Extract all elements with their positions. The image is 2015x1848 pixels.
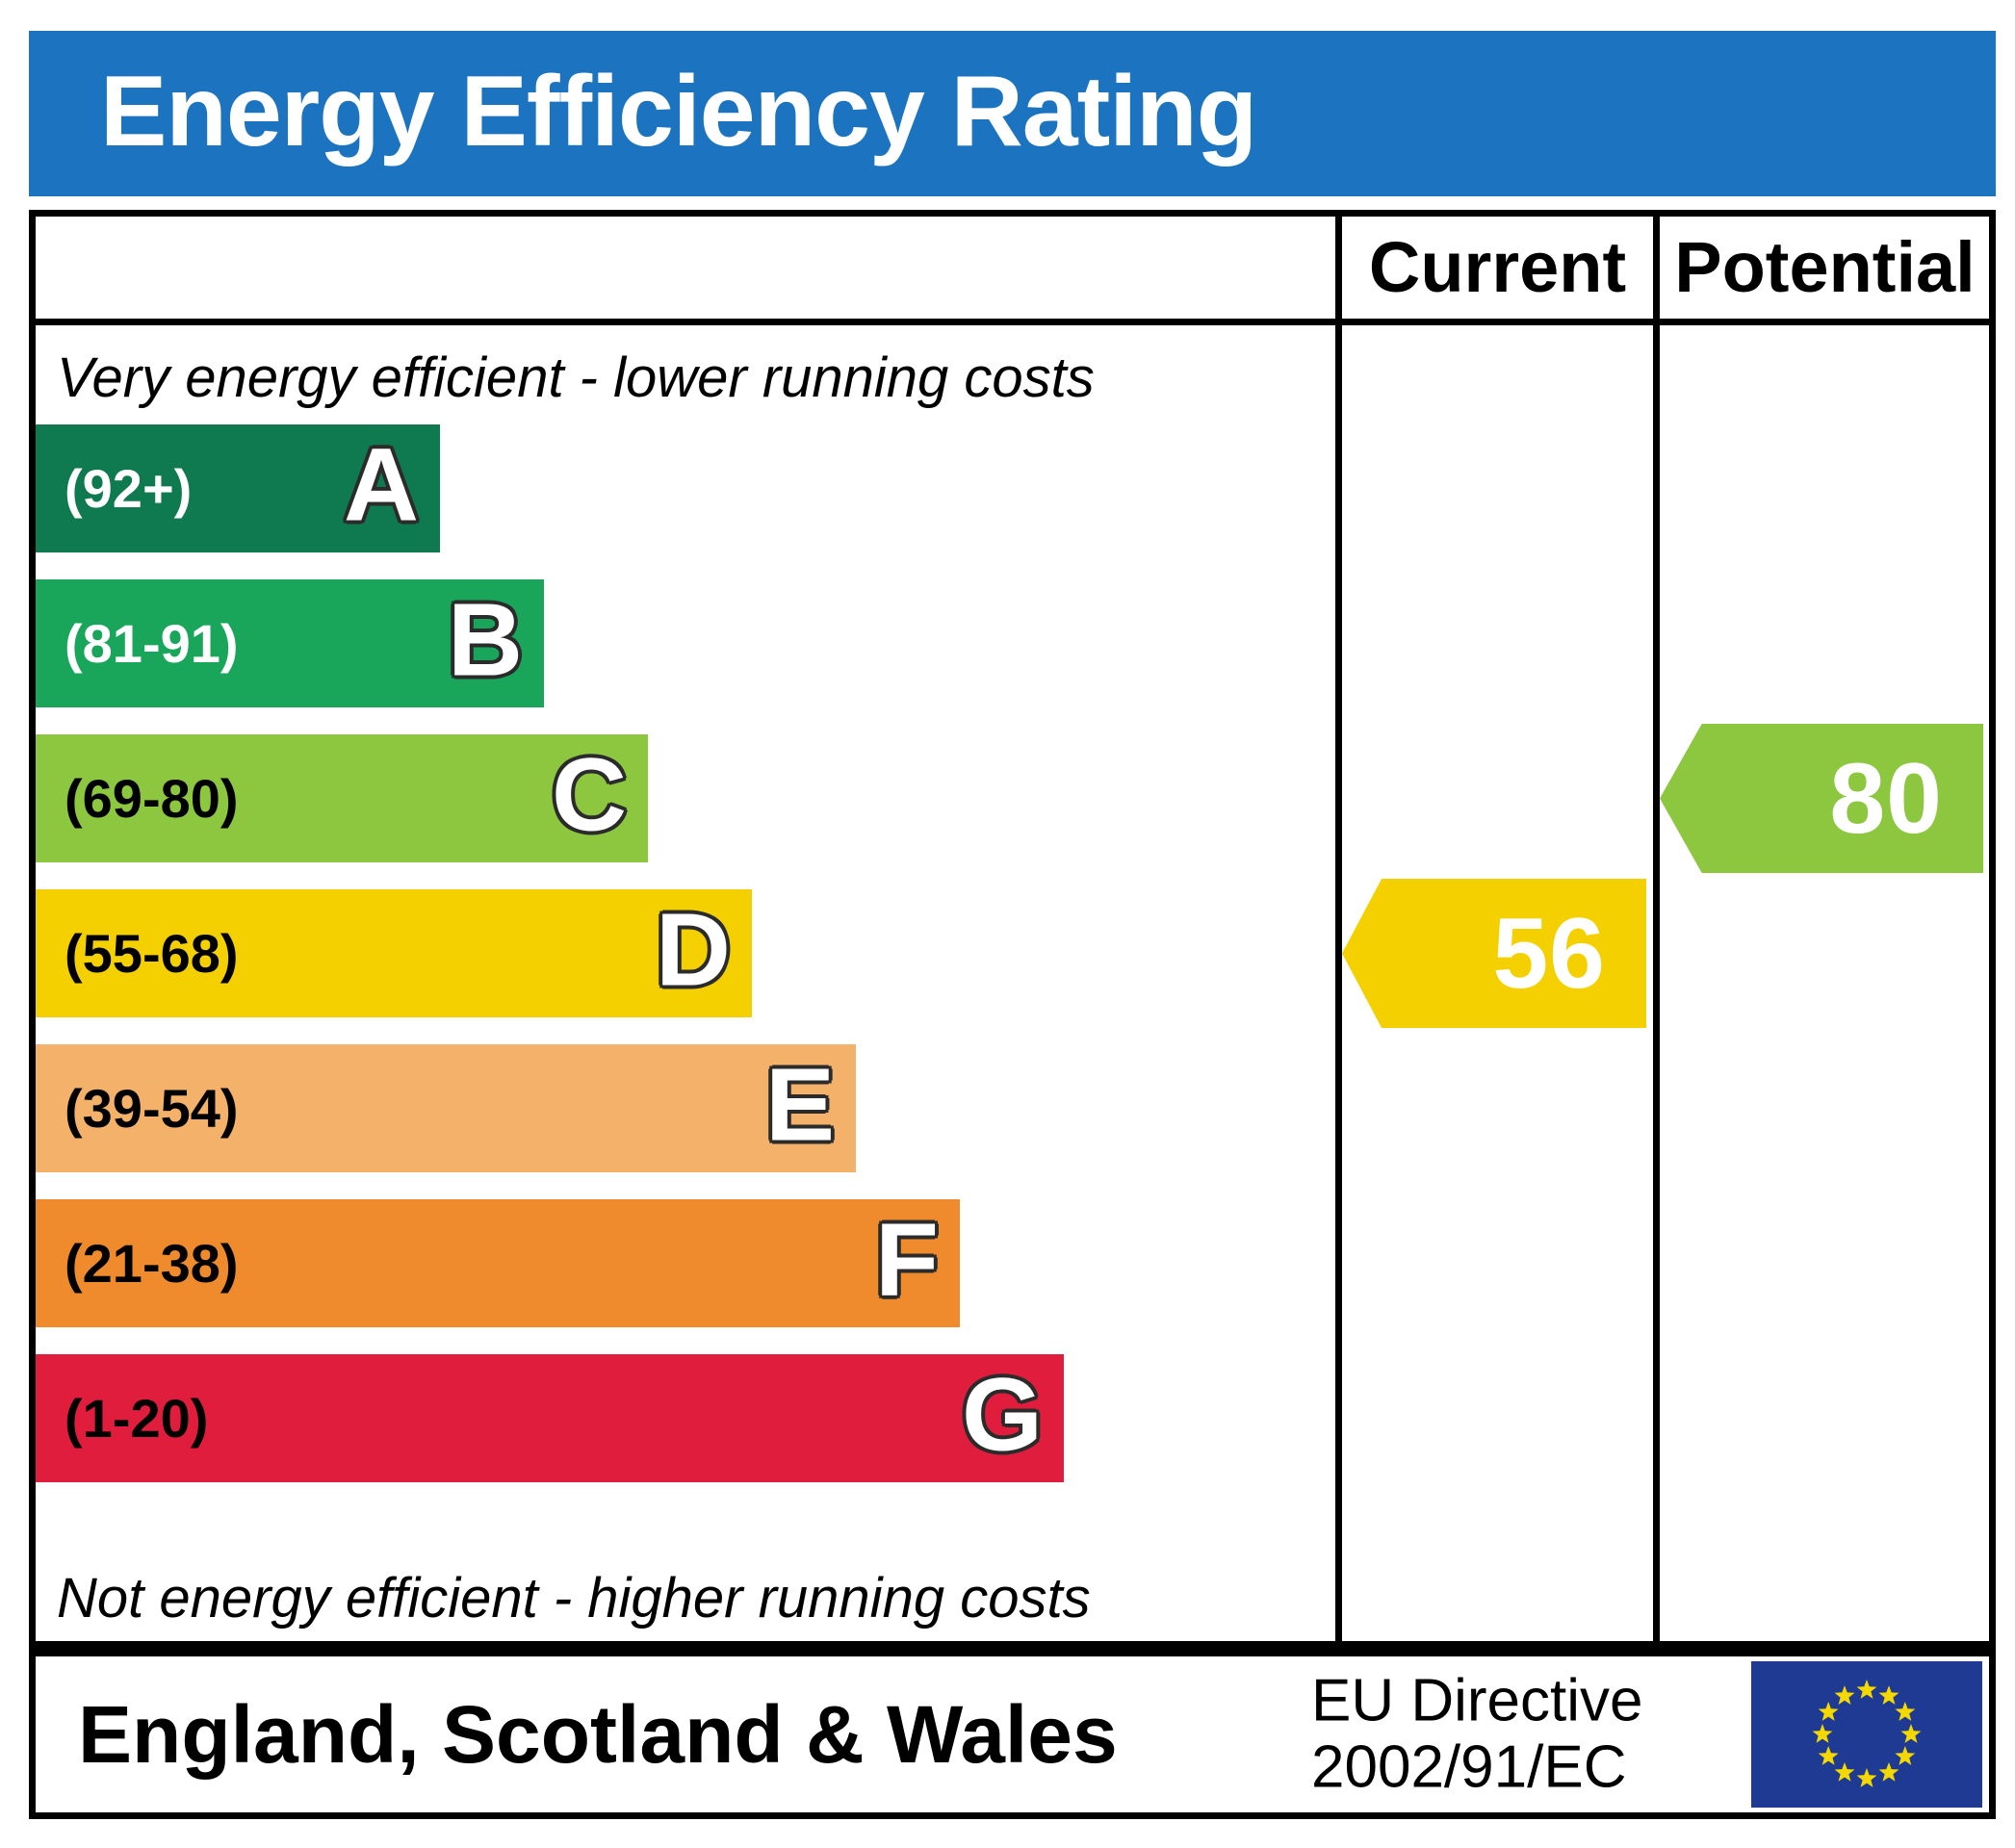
caption-inefficient: Not energy efficient - higher running co… (57, 1571, 1091, 1627)
band-letter-d: D (656, 897, 731, 1001)
band-letter-e: E (765, 1052, 835, 1156)
potential-rating-value: 80 (1829, 749, 1983, 849)
current-rating-value: 56 (1492, 904, 1646, 1004)
band-bar-d: (55-68)D (36, 889, 752, 1017)
column-header-current: Current (1335, 217, 1653, 319)
footer-directive-line1: EU Directive (1311, 1668, 1643, 1734)
table-header-row: Current Potential (36, 217, 1989, 325)
band-range-d: (55-68) (65, 927, 239, 981)
band-bar-g: (1-20)G (36, 1354, 1064, 1482)
band-range-b: (81-91) (65, 617, 239, 671)
band-bar-c: (69-80)C (36, 734, 648, 862)
band-letter-a: A (344, 432, 419, 536)
band-letter-f: F (875, 1207, 939, 1311)
column-divider-potential (1653, 325, 1660, 1641)
page-title: Energy Efficiency Rating (100, 62, 1256, 162)
column-header-potential: Potential (1653, 217, 1990, 319)
potential-rating-arrow: 80 (1660, 724, 1983, 873)
bands-area: Very energy efficient - lower running co… (36, 325, 1335, 1641)
column-divider-current (1335, 325, 1342, 1641)
band-range-g: (1-20) (65, 1392, 208, 1446)
band-bar-e: (39-54)E (36, 1044, 856, 1172)
band-bar-a: (92+)A (36, 424, 440, 552)
band-range-a: (92+) (65, 462, 192, 516)
band-bars: (92+)A(81-91)B(69-80)C(55-68)D(39-54)E(2… (36, 325, 1335, 1641)
footer-region-label: England, Scotland & Wales (78, 1694, 1118, 1775)
title-banner: Energy Efficiency Rating (29, 31, 1996, 196)
footer-directive-label: EU Directive 2002/91/EC (1311, 1668, 1643, 1802)
footer-bar: England, Scotland & Wales EU Directive 2… (29, 1648, 1996, 1819)
rating-table: Current Potential Very energy efficient … (29, 210, 1996, 1648)
current-rating-arrow: 56 (1342, 879, 1646, 1028)
band-letter-g: G (962, 1362, 1043, 1466)
eu-flag-stars (1751, 1661, 1982, 1808)
band-range-c: (69-80) (65, 772, 239, 826)
band-bar-b: (81-91)B (36, 579, 544, 707)
footer-directive-line2: 2002/91/EC (1311, 1734, 1643, 1801)
band-letter-b: B (448, 587, 523, 691)
band-letter-c: C (552, 742, 627, 846)
band-bar-f: (21-38)F (36, 1199, 960, 1327)
eu-flag-icon (1751, 1661, 1982, 1808)
band-range-f: (21-38) (65, 1237, 239, 1291)
band-range-e: (39-54) (65, 1082, 239, 1136)
energy-efficiency-rating-chart: Energy Efficiency Rating Current Potenti… (0, 0, 2015, 1848)
